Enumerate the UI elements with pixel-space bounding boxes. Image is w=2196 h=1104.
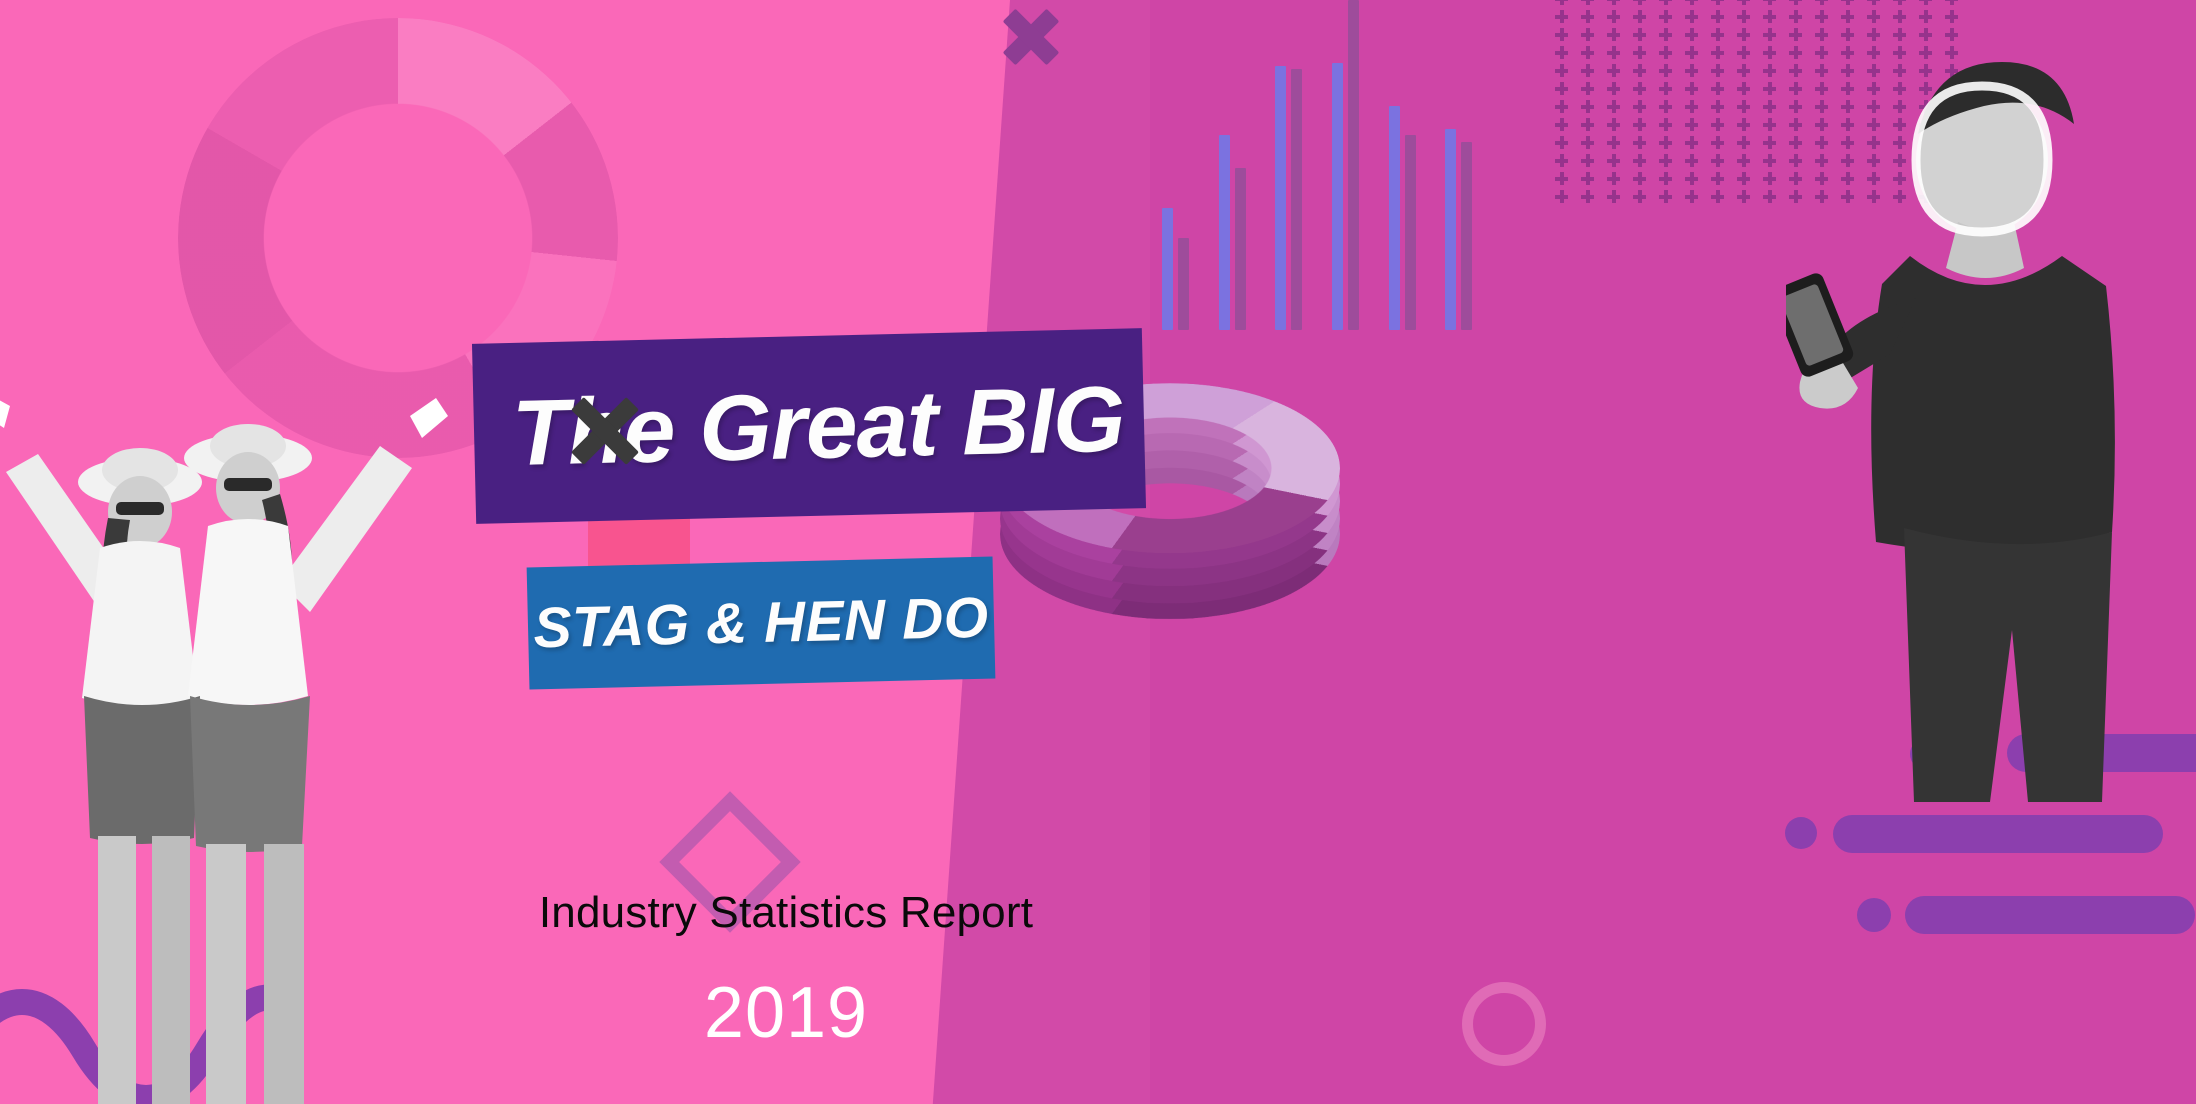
plus-icon — [1711, 10, 1724, 23]
plus-icon — [1789, 10, 1802, 23]
plus-icon — [1685, 28, 1698, 41]
plus-icon — [1763, 28, 1776, 41]
plus-icon — [1581, 100, 1594, 113]
bar — [1275, 66, 1286, 330]
plus-icon — [1893, 0, 1906, 5]
plus-icon — [1789, 0, 1802, 5]
page-subtitle: Industry Statistics Report — [0, 888, 1884, 938]
plus-icon — [1841, 28, 1854, 41]
plus-icon — [1659, 64, 1672, 77]
plus-icon — [1737, 0, 1750, 5]
plus-icon — [1581, 154, 1594, 167]
plus-icon — [1581, 82, 1594, 95]
plus-icon — [1659, 46, 1672, 59]
plus-icon — [1685, 118, 1698, 131]
bar — [1332, 63, 1343, 330]
plus-icon — [1555, 10, 1568, 23]
plus-icon — [1737, 10, 1750, 23]
plus-icon — [1763, 154, 1776, 167]
plus-icon — [1919, 28, 1932, 41]
bar — [1235, 168, 1246, 330]
plus-icon — [1945, 28, 1958, 41]
plus-icon — [1893, 28, 1906, 41]
plus-icon — [1659, 0, 1672, 5]
plus-icon — [1815, 0, 1828, 5]
bar — [1162, 208, 1173, 330]
plus-icon — [1659, 100, 1672, 113]
plus-icon — [1867, 0, 1880, 5]
plus-icon — [1685, 0, 1698, 5]
plus-icon — [1555, 82, 1568, 95]
plus-icon — [1737, 46, 1750, 59]
plus-icon — [1607, 28, 1620, 41]
bar — [1348, 0, 1359, 330]
plus-icon — [1581, 136, 1594, 149]
plus-icon — [1867, 10, 1880, 23]
plus-icon — [1737, 190, 1750, 203]
page-subtitle-banner: STAG & HEN DO — [533, 585, 990, 662]
plus-icon — [1659, 190, 1672, 203]
plus-icon — [1737, 154, 1750, 167]
plus-icon — [1815, 10, 1828, 23]
plus-icon — [1633, 82, 1646, 95]
plus-icon — [1685, 64, 1698, 77]
plus-icon — [1685, 82, 1698, 95]
plus-icon — [1581, 118, 1594, 131]
plus-icon — [1607, 0, 1620, 5]
plus-icon — [1607, 64, 1620, 77]
plus-icon — [1581, 172, 1594, 185]
plus-icon — [1633, 118, 1646, 131]
plus-icon — [1555, 46, 1568, 59]
plus-icon — [1763, 190, 1776, 203]
plus-icon — [1711, 118, 1724, 131]
plus-icon — [1867, 28, 1880, 41]
photo-cutout-man — [1786, 42, 2196, 802]
plus-icon — [1555, 64, 1568, 77]
plus-icon — [1737, 64, 1750, 77]
plus-icon — [1685, 46, 1698, 59]
plus-icon — [1737, 136, 1750, 149]
plus-icon — [1685, 172, 1698, 185]
plus-icon — [1737, 118, 1750, 131]
plus-icon — [1711, 46, 1724, 59]
bar-chart-top — [1158, 0, 1498, 330]
plus-icon — [1711, 64, 1724, 77]
plus-icon — [1607, 136, 1620, 149]
plus-icon — [1711, 136, 1724, 149]
plus-icon — [1737, 172, 1750, 185]
plus-icon — [1841, 10, 1854, 23]
plus-icon — [1711, 0, 1724, 5]
plus-icon — [1607, 10, 1620, 23]
plus-icon — [1685, 190, 1698, 203]
plus-icon — [1659, 136, 1672, 149]
plus-icon — [1763, 0, 1776, 5]
plus-icon — [1633, 190, 1646, 203]
plus-icon — [1659, 154, 1672, 167]
plus-icon — [1555, 190, 1568, 203]
plus-icon — [1581, 0, 1594, 5]
page-year: 2019 — [0, 972, 1884, 1054]
bar — [1291, 69, 1302, 330]
plus-icon — [1685, 100, 1698, 113]
plus-icon — [1737, 28, 1750, 41]
plus-icon — [1841, 0, 1854, 5]
plus-icon — [1659, 118, 1672, 131]
plus-icon — [1581, 28, 1594, 41]
plus-icon — [1659, 28, 1672, 41]
plus-icon — [1711, 100, 1724, 113]
plus-icon — [1789, 28, 1802, 41]
plus-icon — [1945, 10, 1958, 23]
plus-icon — [1555, 172, 1568, 185]
plus-icon — [1607, 100, 1620, 113]
plus-icon — [1633, 100, 1646, 113]
plus-icon — [1685, 10, 1698, 23]
plus-icon — [1945, 0, 1958, 5]
plus-icon — [1763, 136, 1776, 149]
plus-icon — [1633, 172, 1646, 185]
plus-icon — [1763, 82, 1776, 95]
plus-icon — [1555, 28, 1568, 41]
plus-icon — [1607, 190, 1620, 203]
plus-icon — [1685, 136, 1698, 149]
plus-icon — [1633, 10, 1646, 23]
plus-icon — [1919, 0, 1932, 5]
bar — [1461, 142, 1472, 330]
bar — [1445, 129, 1456, 330]
bar — [1389, 106, 1400, 330]
plus-icon — [1555, 0, 1568, 5]
plus-icon — [1555, 100, 1568, 113]
plus-icon — [1659, 82, 1672, 95]
title-banner-secondary: STAG & HEN DO — [527, 557, 996, 690]
plus-icon — [1763, 172, 1776, 185]
plus-icon — [1607, 172, 1620, 185]
plus-icon — [1633, 154, 1646, 167]
plus-icon — [1763, 64, 1776, 77]
plus-icon — [1581, 190, 1594, 203]
bar — [1178, 238, 1189, 330]
plus-icon — [1763, 100, 1776, 113]
plus-icon — [1633, 136, 1646, 149]
plus-icon — [1659, 172, 1672, 185]
plus-icon — [1659, 10, 1672, 23]
plus-icon — [1633, 28, 1646, 41]
plus-icon — [1607, 118, 1620, 131]
plus-icon — [1763, 10, 1776, 23]
plus-icon — [1711, 154, 1724, 167]
plus-icon — [1555, 118, 1568, 131]
plus-icon — [1607, 154, 1620, 167]
plus-icon — [1555, 154, 1568, 167]
plus-icon — [1711, 28, 1724, 41]
plus-icon — [1711, 82, 1724, 95]
plus-icon — [1711, 190, 1724, 203]
plus-icon — [1633, 46, 1646, 59]
report-cover: The Great BIG STAG & HEN DO — [0, 0, 2196, 1104]
plus-icon — [1919, 10, 1932, 23]
plus-icon — [1737, 82, 1750, 95]
plus-icon — [1581, 46, 1594, 59]
bar — [1405, 135, 1416, 330]
plus-icon — [1633, 64, 1646, 77]
plus-icon — [1555, 136, 1568, 149]
plus-icon — [1815, 28, 1828, 41]
plus-icon — [1685, 154, 1698, 167]
plus-icon — [1737, 100, 1750, 113]
plus-icon — [1763, 118, 1776, 131]
plus-icon — [1893, 10, 1906, 23]
plus-icon — [1633, 0, 1646, 5]
bar — [1219, 135, 1230, 330]
x-mark-purple-icon — [1000, 6, 1062, 68]
plus-icon — [1711, 172, 1724, 185]
plus-icon — [1581, 64, 1594, 77]
plus-icon — [1607, 82, 1620, 95]
x-mark-dark-icon — [566, 392, 644, 470]
plus-icon — [1581, 10, 1594, 23]
plus-icon — [1763, 46, 1776, 59]
plus-icon — [1607, 46, 1620, 59]
